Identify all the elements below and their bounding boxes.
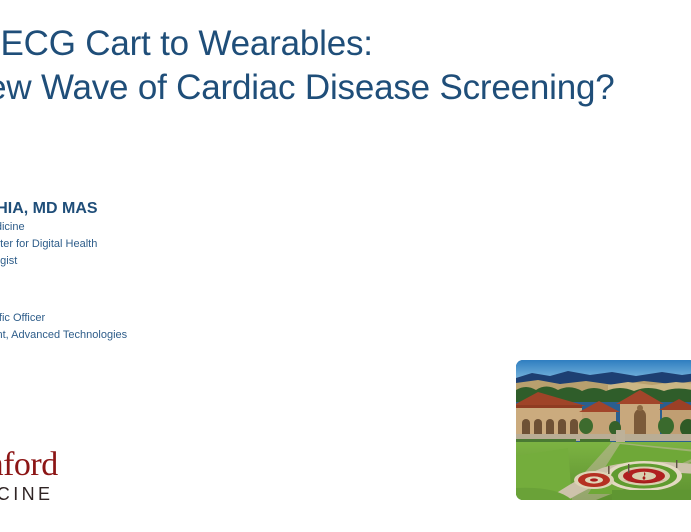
presenter-role-2: ector, Center for Digital Health	[0, 236, 370, 253]
logo-wordmark: anford	[0, 448, 232, 482]
presenter-role-3: rophysiologist	[0, 253, 370, 270]
title-line-1: m ECG Cart to Wearables:	[0, 22, 691, 66]
presenter-affiliation: l & Scientific Officer e President, Adva…	[0, 310, 370, 361]
affiliation-line-1: l & Scientific Officer	[0, 310, 370, 327]
presenter-role-1: sor of Medicine	[0, 219, 370, 236]
campus-photo	[516, 360, 691, 500]
presenter-name: URAKHIA, MD MAS	[0, 198, 370, 219]
campus-photo-artwork	[516, 360, 691, 500]
presenter-role-4: versity	[0, 270, 370, 287]
affiliation-line-3: nologies	[0, 344, 370, 361]
page-title: m ECG Cart to Wearables: New Wave of Car…	[0, 22, 691, 110]
presentation-slide: m ECG Cart to Wearables: New Wave of Car…	[0, 0, 691, 532]
affiliation-line-2: e President, Advanced Technologies	[0, 327, 370, 344]
title-line-2: New Wave of Cardiac Disease Screening?	[0, 66, 691, 110]
stanford-medicine-logo: anford DICINE	[0, 448, 232, 505]
logo-subtitle: DICINE	[0, 483, 232, 505]
presenter-byline: URAKHIA, MD MAS sor of Medicine ector, C…	[0, 198, 370, 287]
